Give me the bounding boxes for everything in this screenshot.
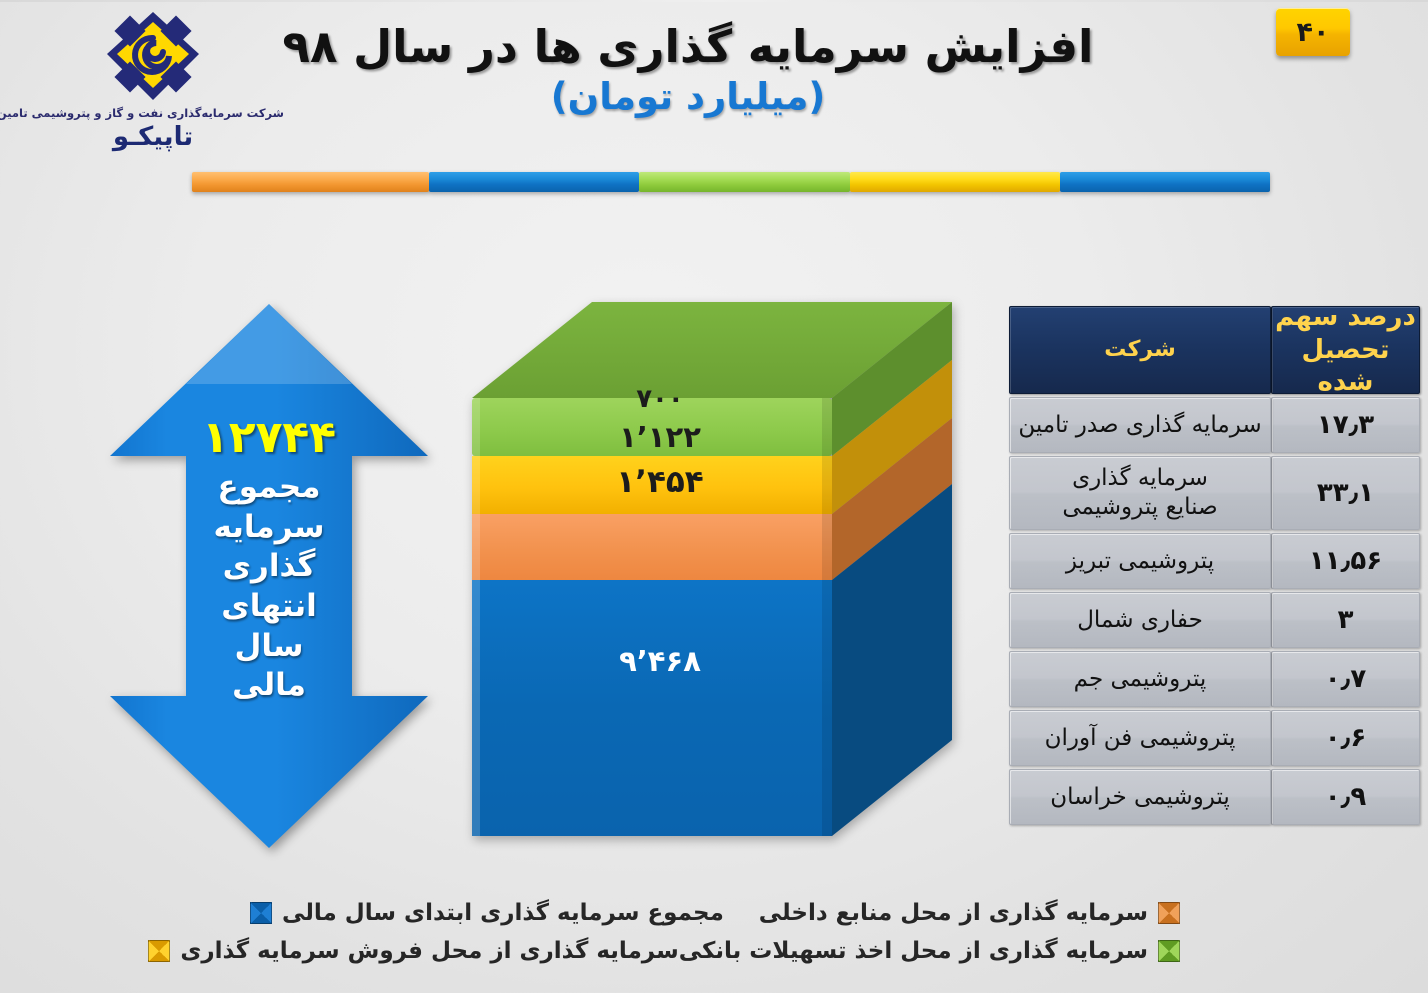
brand-short-name: تاپیکـو xyxy=(22,122,284,152)
slide-root: شرکت سرمایه‌گذاری نفت و گاز و پتروشیمی ت… xyxy=(0,0,1428,993)
divider-segment-blue-2 xyxy=(429,172,639,192)
table-cell-percent: ۳ xyxy=(1271,592,1420,648)
bar-segment-label-green: ۷۰۰ xyxy=(470,384,850,414)
table-row: ۱۷٫۳سرمایه گذاری صدر تامین xyxy=(1006,397,1420,453)
legend-chip-yellow-icon xyxy=(148,940,170,962)
legend-item-orange: سرمایه گذاری از محل منابع داخلی xyxy=(759,900,1180,926)
bar-3d-shape xyxy=(462,292,962,844)
table-cell-company: حفاری شمال xyxy=(1009,592,1271,648)
legend-chip-green-icon xyxy=(1158,940,1180,962)
legend-label-green: سرمایه گذاری از محل اخذ تسهیلات بانکی xyxy=(679,938,1148,964)
legend-chip-blue-icon xyxy=(250,902,272,924)
table-header-percent: درصد سهم تحصیل شده xyxy=(1271,306,1420,394)
page-number-badge: ۴۰ xyxy=(1276,8,1350,56)
brand-logo-block: شرکت سرمایه‌گذاری نفت و گاز و پتروشیمی ت… xyxy=(22,8,284,152)
table-body: ۱۷٫۳سرمایه گذاری صدر تامین۳۳٫۱سرمایه گذا… xyxy=(1006,397,1420,825)
legend-row-2: سرمایه گذاری از محل اخذ تسهیلات بانکی سر… xyxy=(250,938,1180,964)
page-subtitle: (میلیارد تومان) xyxy=(248,76,1128,119)
tapico-diamond-logo-icon xyxy=(103,8,203,104)
table-cell-percent: ۰٫۹ xyxy=(1271,769,1420,825)
table-cell-company: پتروشیمی فن آوران xyxy=(1009,710,1271,766)
title-block: افزایش سرمایه گذاری ها در سال ۹۸ (میلیار… xyxy=(248,22,1128,118)
legend-item-blue: مجموع سرمایه گذاری ابتدای سال مالی xyxy=(250,900,724,926)
table-row: ۰٫۶پتروشیمی فن آوران xyxy=(1006,710,1420,766)
table-header-row: درصد سهم تحصیل شده شرکت xyxy=(1006,306,1420,394)
page-title: افزایش سرمایه گذاری ها در سال ۹۸ xyxy=(248,22,1128,72)
legend-row-1: سرمایه گذاری از محل منابع داخلی مجموع سر… xyxy=(250,900,1180,926)
table-cell-company: پتروشیمی تبریز xyxy=(1009,533,1271,589)
bar-segment-label-blue: ۹٬۴۶۸ xyxy=(470,644,850,678)
table-cell-percent: ۰٫۷ xyxy=(1271,651,1420,707)
table-row: ۳حفاری شمال xyxy=(1006,592,1420,648)
bar-segment-label-yellow: ۱٬۱۲۲ xyxy=(470,420,850,454)
chart-legend: سرمایه گذاری از محل منابع داخلی مجموع سر… xyxy=(250,900,1180,976)
table-row: ۰٫۹پتروشیمی خراسان xyxy=(1006,769,1420,825)
divider-segment-green xyxy=(639,172,849,192)
total-investment-label: مجموع سرمایه گذاری انتهای سال مالی xyxy=(195,468,343,706)
table-cell-percent: ۱۷٫۳ xyxy=(1271,397,1420,453)
table-cell-company: سرمایه گذاریصنایع پتروشیمی xyxy=(1009,456,1271,530)
decorative-divider-bar xyxy=(192,172,1270,192)
legend-label-yellow: سرمایه گذاری از محل فروش سرمایه گذاری xyxy=(180,938,678,964)
legend-item-green: سرمایه گذاری از محل اخذ تسهیلات بانکی xyxy=(679,938,1180,964)
legend-label-blue: مجموع سرمایه گذاری ابتدای سال مالی xyxy=(282,900,724,926)
table-header-company: شرکت xyxy=(1009,306,1271,394)
total-investment-value: ۱۲۷۴۴ xyxy=(104,416,434,460)
legend-chip-orange-icon xyxy=(1158,902,1180,924)
table-row: ۳۳٫۱سرمایه گذاریصنایع پتروشیمی xyxy=(1006,456,1420,530)
top-divider-line xyxy=(0,0,1428,2)
bar-segment-label-orange: ۱٬۴۵۴ xyxy=(470,464,850,500)
table-row: ۱۱٫۵۶پتروشیمی تبریز xyxy=(1006,533,1420,589)
shareholding-table: درصد سهم تحصیل شده شرکت ۱۷٫۳سرمایه گذاری… xyxy=(1006,306,1420,828)
table-cell-percent: ۱۱٫۵۶ xyxy=(1271,533,1420,589)
total-investment-arrow: ۱۲۷۴۴ مجموع سرمایه گذاری انتهای سال مالی xyxy=(104,298,434,854)
stacked-bar-chart: ۷۰۰ ۱٬۱۲۲ ۱٬۴۵۴ ۹٬۴۶۸ xyxy=(462,292,962,844)
divider-segment-blue xyxy=(1060,172,1270,192)
company-legal-name: شرکت سرمایه‌گذاری نفت و گاز و پتروشیمی ت… xyxy=(22,106,284,120)
table-row: ۰٫۷پتروشیمی جم xyxy=(1006,651,1420,707)
table-cell-percent: ۰٫۶ xyxy=(1271,710,1420,766)
table-cell-company: پتروشیمی خراسان xyxy=(1009,769,1271,825)
table-cell-company: سرمایه گذاری صدر تامین xyxy=(1009,397,1271,453)
divider-segment-yellow xyxy=(850,172,1060,192)
arrow-text-group: ۱۲۷۴۴ مجموع سرمایه گذاری انتهای سال مالی xyxy=(104,416,434,706)
legend-label-orange: سرمایه گذاری از محل منابع داخلی xyxy=(759,900,1148,926)
table-cell-company: پتروشیمی جم xyxy=(1009,651,1271,707)
table-cell-percent: ۳۳٫۱ xyxy=(1271,456,1420,530)
legend-item-yellow: سرمایه گذاری از محل فروش سرمایه گذاری xyxy=(148,938,678,964)
divider-segment-orange xyxy=(192,172,429,192)
